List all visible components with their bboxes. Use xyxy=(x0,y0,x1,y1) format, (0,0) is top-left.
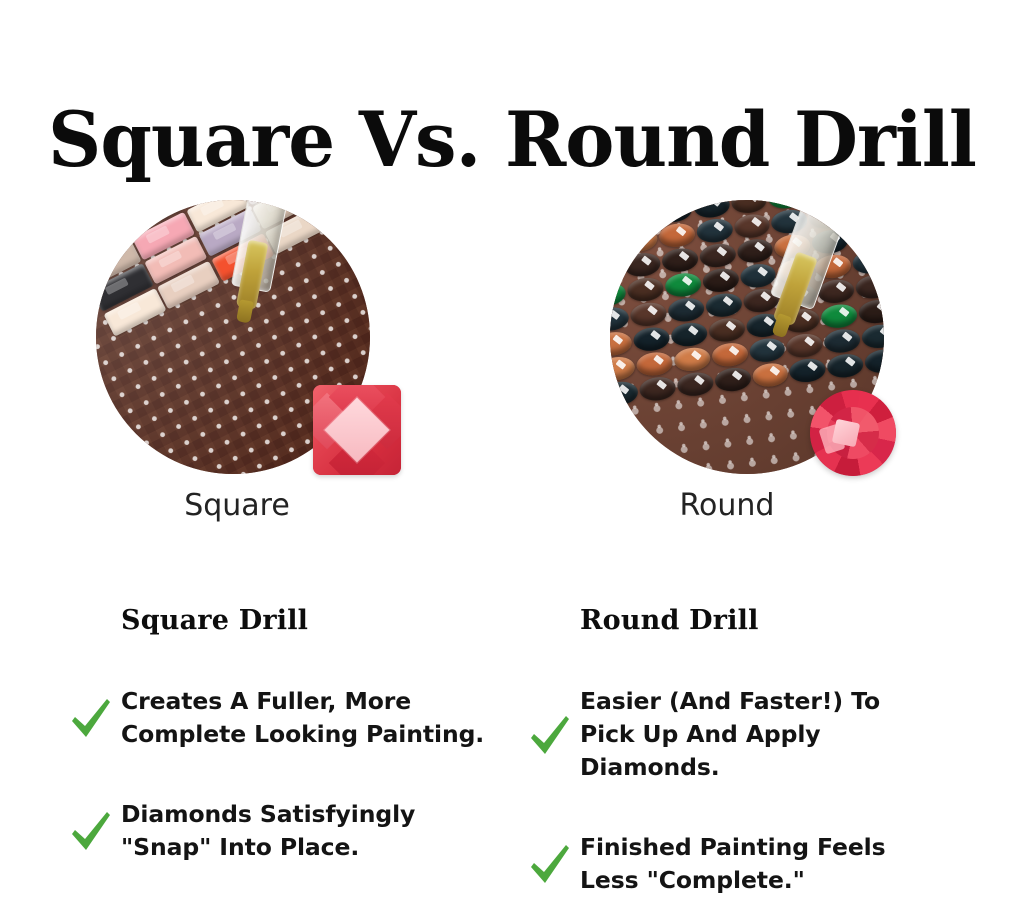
round-drill-bullet-list: Easier (And Faster!) To Pick Up And Appl… xyxy=(529,685,959,897)
photo-row xyxy=(0,200,1024,490)
round-drill-heading: Round Drill xyxy=(580,604,959,638)
check-icon xyxy=(70,696,112,740)
list-item: Finished Painting Feels Less "Complete." xyxy=(529,831,959,897)
check-icon xyxy=(529,713,571,757)
check-icon xyxy=(529,842,571,886)
square-drill-heading: Square Drill xyxy=(121,604,500,638)
list-item-label: Easier (And Faster!) To Pick Up And Appl… xyxy=(580,685,959,784)
list-item-label: Diamonds Satisfyingly "Snap" Into Place. xyxy=(121,798,415,864)
square-drill-bullet-list: Creates A Fuller, More Complete Looking … xyxy=(70,685,500,864)
list-item: Creates A Fuller, More Complete Looking … xyxy=(70,685,500,751)
square-drill-section: Square Drill Creates A Fuller, More Comp… xyxy=(70,604,500,864)
square-photo-cell xyxy=(88,200,418,490)
list-item: Diamonds Satisfyingly "Snap" Into Place. xyxy=(70,798,500,864)
list-item-label: Creates A Fuller, More Complete Looking … xyxy=(121,685,484,751)
round-photo-caption: Round xyxy=(562,487,892,525)
list-item-label: Finished Painting Feels Less "Complete." xyxy=(580,831,886,897)
square-gem-icon xyxy=(313,385,401,475)
round-photo-cell xyxy=(602,200,932,490)
round-drill-section: Round Drill Easier (And Faster!) To Pick… xyxy=(529,604,959,897)
list-item: Easier (And Faster!) To Pick Up And Appl… xyxy=(529,685,959,784)
check-icon xyxy=(70,809,112,853)
round-gem-icon xyxy=(810,390,896,476)
page-title: Square Vs. Round Drill xyxy=(15,97,1008,183)
infographic-page: Square Vs. Round Drill xyxy=(0,0,1024,923)
square-photo-caption: Square xyxy=(72,487,402,525)
